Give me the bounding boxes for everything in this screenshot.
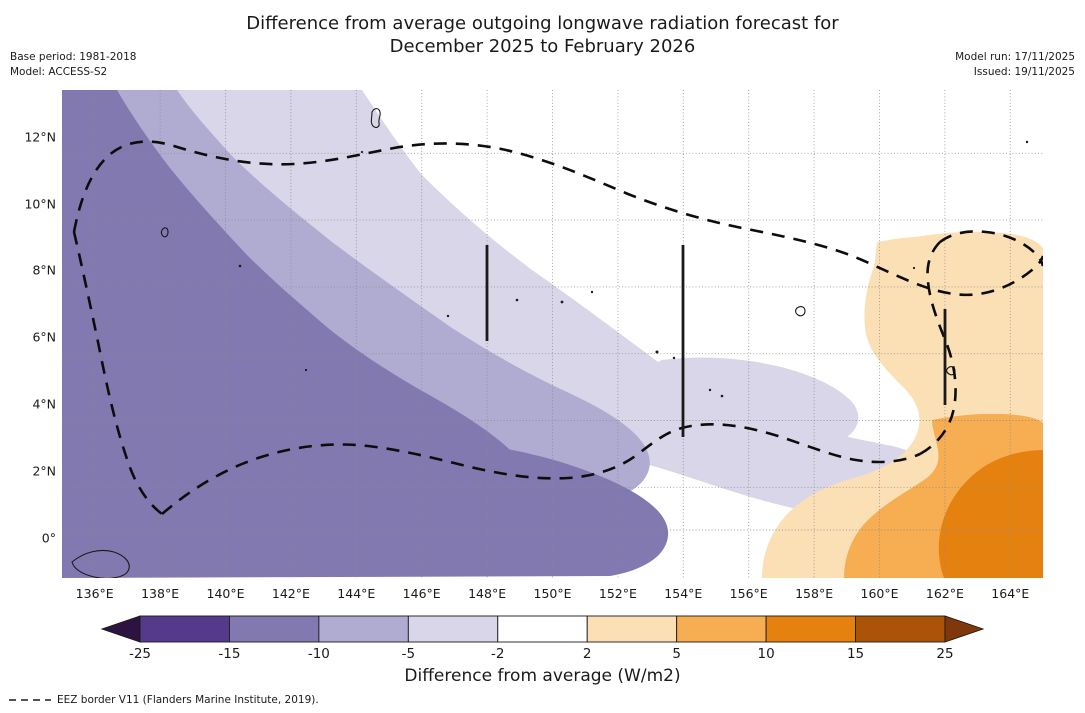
longitude-tick-label: 138°E — [141, 586, 179, 601]
longitude-tick-label: 146°E — [403, 586, 441, 601]
latitude-axis: 0°2°N4°N6°N8°N10°N12°N — [0, 90, 56, 578]
longitude-tick-label: 152°E — [599, 586, 637, 601]
colorbar: -25-15-10-5-225101525 — [0, 612, 1085, 662]
olr-anomaly-map — [62, 90, 1043, 578]
colorbar-band — [319, 616, 408, 642]
colorbar-tick-label: 5 — [672, 646, 681, 662]
eez-legend: EEZ border V11 (Flanders Marine Institut… — [8, 694, 319, 706]
model-run-label: Model run: 17/11/2025 — [955, 50, 1075, 65]
page-title: Difference from average outgoing longwav… — [0, 12, 1085, 58]
latitude-tick-label: 8°N — [4, 263, 56, 278]
colorbar-band — [677, 616, 766, 642]
colorbar-band — [408, 616, 497, 642]
issued-label: Issued: 19/11/2025 — [955, 65, 1075, 80]
colorbar-tick-label: -15 — [218, 646, 240, 662]
longitude-tick-label: 154°E — [664, 586, 702, 601]
colorbar-tick-label: -2 — [491, 646, 504, 662]
colorbar-tick-label: 25 — [936, 646, 953, 662]
colorbar-tick-label: -10 — [308, 646, 330, 662]
colorbar-band — [498, 616, 587, 642]
longitude-tick-label: 142°E — [272, 586, 310, 601]
colorbar-band-under — [102, 616, 140, 642]
longitude-tick-label: 156°E — [730, 586, 768, 601]
map-plot-area: © Commonwealth of Australia 2025, Bureau… — [62, 90, 1043, 578]
eez-dash-icon — [8, 695, 52, 705]
base-period-label: Base period: 1981-2018 — [10, 50, 136, 65]
latitude-tick-label: 4°N — [4, 397, 56, 412]
longitude-tick-label: 140°E — [206, 586, 244, 601]
colorbar-band — [229, 616, 318, 642]
longitude-tick-label: 160°E — [860, 586, 898, 601]
latitude-tick-label: 0° — [4, 530, 56, 545]
eez-legend-label: EEZ border V11 (Flanders Marine Institut… — [57, 694, 319, 706]
longitude-tick-label: 164°E — [991, 586, 1029, 601]
colorbar-band — [587, 616, 676, 642]
region-pos2-pos5-north-tongue — [910, 232, 1044, 280]
colorbar-tick-label: -25 — [129, 646, 151, 662]
colorbar-band — [140, 616, 229, 642]
latitude-tick-label: 10°N — [4, 196, 56, 211]
colorbar-band-over — [945, 616, 983, 642]
longitude-tick-label: 162°E — [926, 586, 964, 601]
model-label: Model: ACCESS-S2 — [10, 65, 136, 80]
longitude-axis: 136°E138°E140°E142°E144°E146°E148°E150°E… — [62, 586, 1043, 606]
metadata-right: Model run: 17/11/2025 Issued: 19/11/2025 — [955, 50, 1075, 80]
colorbar-tick-label: 10 — [758, 646, 775, 662]
colorbar-tick-label: -5 — [402, 646, 415, 662]
colorbar-swatches — [0, 612, 1085, 646]
colorbar-tick-label: 15 — [847, 646, 864, 662]
latitude-tick-label: 2°N — [4, 464, 56, 479]
longitude-tick-label: 150°E — [533, 586, 571, 601]
longitude-tick-label: 158°E — [795, 586, 833, 601]
colorbar-title: Difference from average (W/m2) — [0, 666, 1085, 686]
longitude-tick-label: 148°E — [468, 586, 506, 601]
longitude-tick-label: 136°E — [76, 586, 114, 601]
longitude-tick-label: 144°E — [337, 586, 375, 601]
colorbar-band — [856, 616, 945, 642]
colorbar-band — [766, 616, 855, 642]
colorbar-tick-label: 2 — [583, 646, 592, 662]
latitude-tick-label: 6°N — [4, 330, 56, 345]
metadata-left: Base period: 1981-2018 Model: ACCESS-S2 — [10, 50, 136, 80]
latitude-tick-label: 12°N — [4, 129, 56, 144]
